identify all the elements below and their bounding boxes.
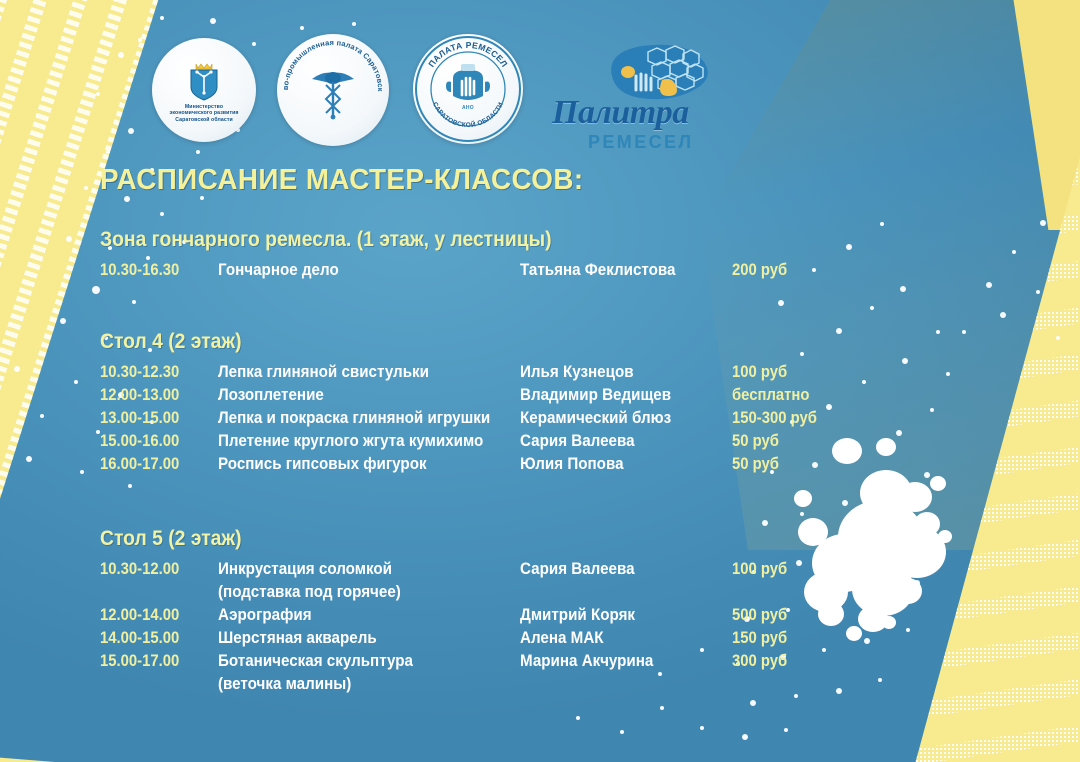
row-time: 15.00-16.00 bbox=[100, 432, 206, 451]
row-price: 300 руб bbox=[732, 652, 858, 671]
row-description: Плетение круглого жгута кумихимо bbox=[218, 432, 496, 451]
row-price: бесплатно bbox=[732, 386, 858, 405]
row-master: Дмитрий Коряк bbox=[520, 606, 715, 625]
row-time: 14.00-15.00 bbox=[100, 629, 206, 648]
row-description: Лепка и покраска глиняной игрушки bbox=[218, 409, 496, 428]
schedule-row: (веточка малины) bbox=[100, 675, 872, 698]
row-master: Алена МАК bbox=[520, 629, 715, 648]
schedule-row: 14.00-15.00Шерстяная акварельАлена МАК15… bbox=[100, 629, 872, 652]
row-price: 100 руб bbox=[732, 363, 858, 382]
row-time: 12.00-13.00 bbox=[100, 386, 206, 405]
row-master: Владимир Ведищев bbox=[520, 386, 715, 405]
row-price: 50 руб bbox=[732, 455, 858, 474]
schedule-row: 12.00-13.00ЛозоплетениеВладимир Ведищевб… bbox=[100, 386, 872, 409]
row-price: 200 руб bbox=[732, 261, 858, 280]
section-heading: Зона гончарного ремесла. (1 этаж, у лест… bbox=[100, 228, 810, 252]
schedule-row: 10.30-12.00Инкрустация соломкойСария Вал… bbox=[100, 560, 872, 583]
row-master: Сария Валеева bbox=[520, 560, 715, 579]
schedule-row: 12.00-14.00АэрографияДмитрий Коряк500 ру… bbox=[100, 606, 872, 629]
section-pottery-zone: Зона гончарного ремесла. (1 этаж, у лест… bbox=[100, 228, 872, 284]
row-master: Татьяна Феклистова bbox=[520, 261, 715, 280]
row-description: (веточка малины) bbox=[218, 675, 496, 694]
row-time: 10.30-16.30 bbox=[100, 261, 206, 280]
row-description: Шерстяная акварель bbox=[218, 629, 496, 648]
row-price: 100 руб bbox=[732, 560, 858, 579]
row-time: 15.00-17.00 bbox=[100, 652, 206, 671]
section-heading: Стол 4 (2 этаж) bbox=[100, 330, 810, 354]
row-master: Марина Акчурина bbox=[520, 652, 715, 671]
schedule-row: 15.00-16.00Плетение круглого жгута кумих… bbox=[100, 432, 872, 455]
row-description: Аэрография bbox=[218, 606, 496, 625]
row-master: Юлия Попова bbox=[520, 455, 715, 474]
section-rows: 10.30-12.00Инкрустация соломкойСария Вал… bbox=[100, 560, 872, 698]
row-time: 16.00-17.00 bbox=[100, 455, 206, 474]
row-price: 500 руб bbox=[732, 606, 858, 625]
row-description: Инкрустация соломкой bbox=[218, 560, 496, 579]
row-price: 50 руб bbox=[732, 432, 858, 451]
row-description: Лозоплетение bbox=[218, 386, 496, 405]
row-description: Ботаническая скульптура bbox=[218, 652, 496, 671]
schedule-row: 15.00-17.00Ботаническая скульптураМарина… bbox=[100, 652, 872, 675]
row-master: Керамический блюз bbox=[520, 409, 715, 428]
row-time: 13.00-15.00 bbox=[100, 409, 206, 428]
row-description: Лепка глиняной свистульки bbox=[218, 363, 496, 382]
row-master: Сария Валеева bbox=[520, 432, 715, 451]
schedule-row: 16.00-17.00Роспись гипсовых фигурокЮлия … bbox=[100, 455, 872, 478]
section-rows: 10.30-16.30Гончарное делоТатьяна Феклист… bbox=[100, 261, 872, 284]
row-description: (подставка под горячее) bbox=[218, 583, 496, 602]
poster-root: Министерство экономического развития Сар… bbox=[0, 0, 1080, 762]
section-table-4: Стол 4 (2 этаж) 10.30-12.30Лепка глиняно… bbox=[100, 330, 872, 478]
row-description: Гончарное дело bbox=[218, 261, 496, 280]
row-time: 10.30-12.00 bbox=[100, 560, 206, 579]
row-time: 12.00-14.00 bbox=[100, 606, 206, 625]
schedule-row: 10.30-12.30Лепка глиняной свистулькиИлья… bbox=[100, 363, 872, 386]
schedule-content: РАСПИСАНИЕ МАСТЕР-КЛАССОВ: Зона гончарно… bbox=[0, 0, 1080, 762]
row-price: 150 руб bbox=[732, 629, 858, 648]
schedule-row: 13.00-15.00Лепка и покраска глиняной игр… bbox=[100, 409, 872, 432]
schedule-row: (подставка под горячее) bbox=[100, 583, 872, 606]
page-title: РАСПИСАНИЕ МАСТЕР-КЛАССОВ: bbox=[100, 164, 583, 197]
row-description: Роспись гипсовых фигурок bbox=[218, 455, 496, 474]
section-table-5: Стол 5 (2 этаж) 10.30-12.00Инкрустация с… bbox=[100, 527, 872, 698]
row-price: 150-300 руб bbox=[732, 409, 858, 428]
section-heading: Стол 5 (2 этаж) bbox=[100, 527, 810, 551]
schedule-row: 10.30-16.30Гончарное делоТатьяна Феклист… bbox=[100, 261, 872, 284]
row-time: 10.30-12.30 bbox=[100, 363, 206, 382]
section-rows: 10.30-12.30Лепка глиняной свистулькиИлья… bbox=[100, 363, 872, 478]
row-master: Илья Кузнецов bbox=[520, 363, 715, 382]
